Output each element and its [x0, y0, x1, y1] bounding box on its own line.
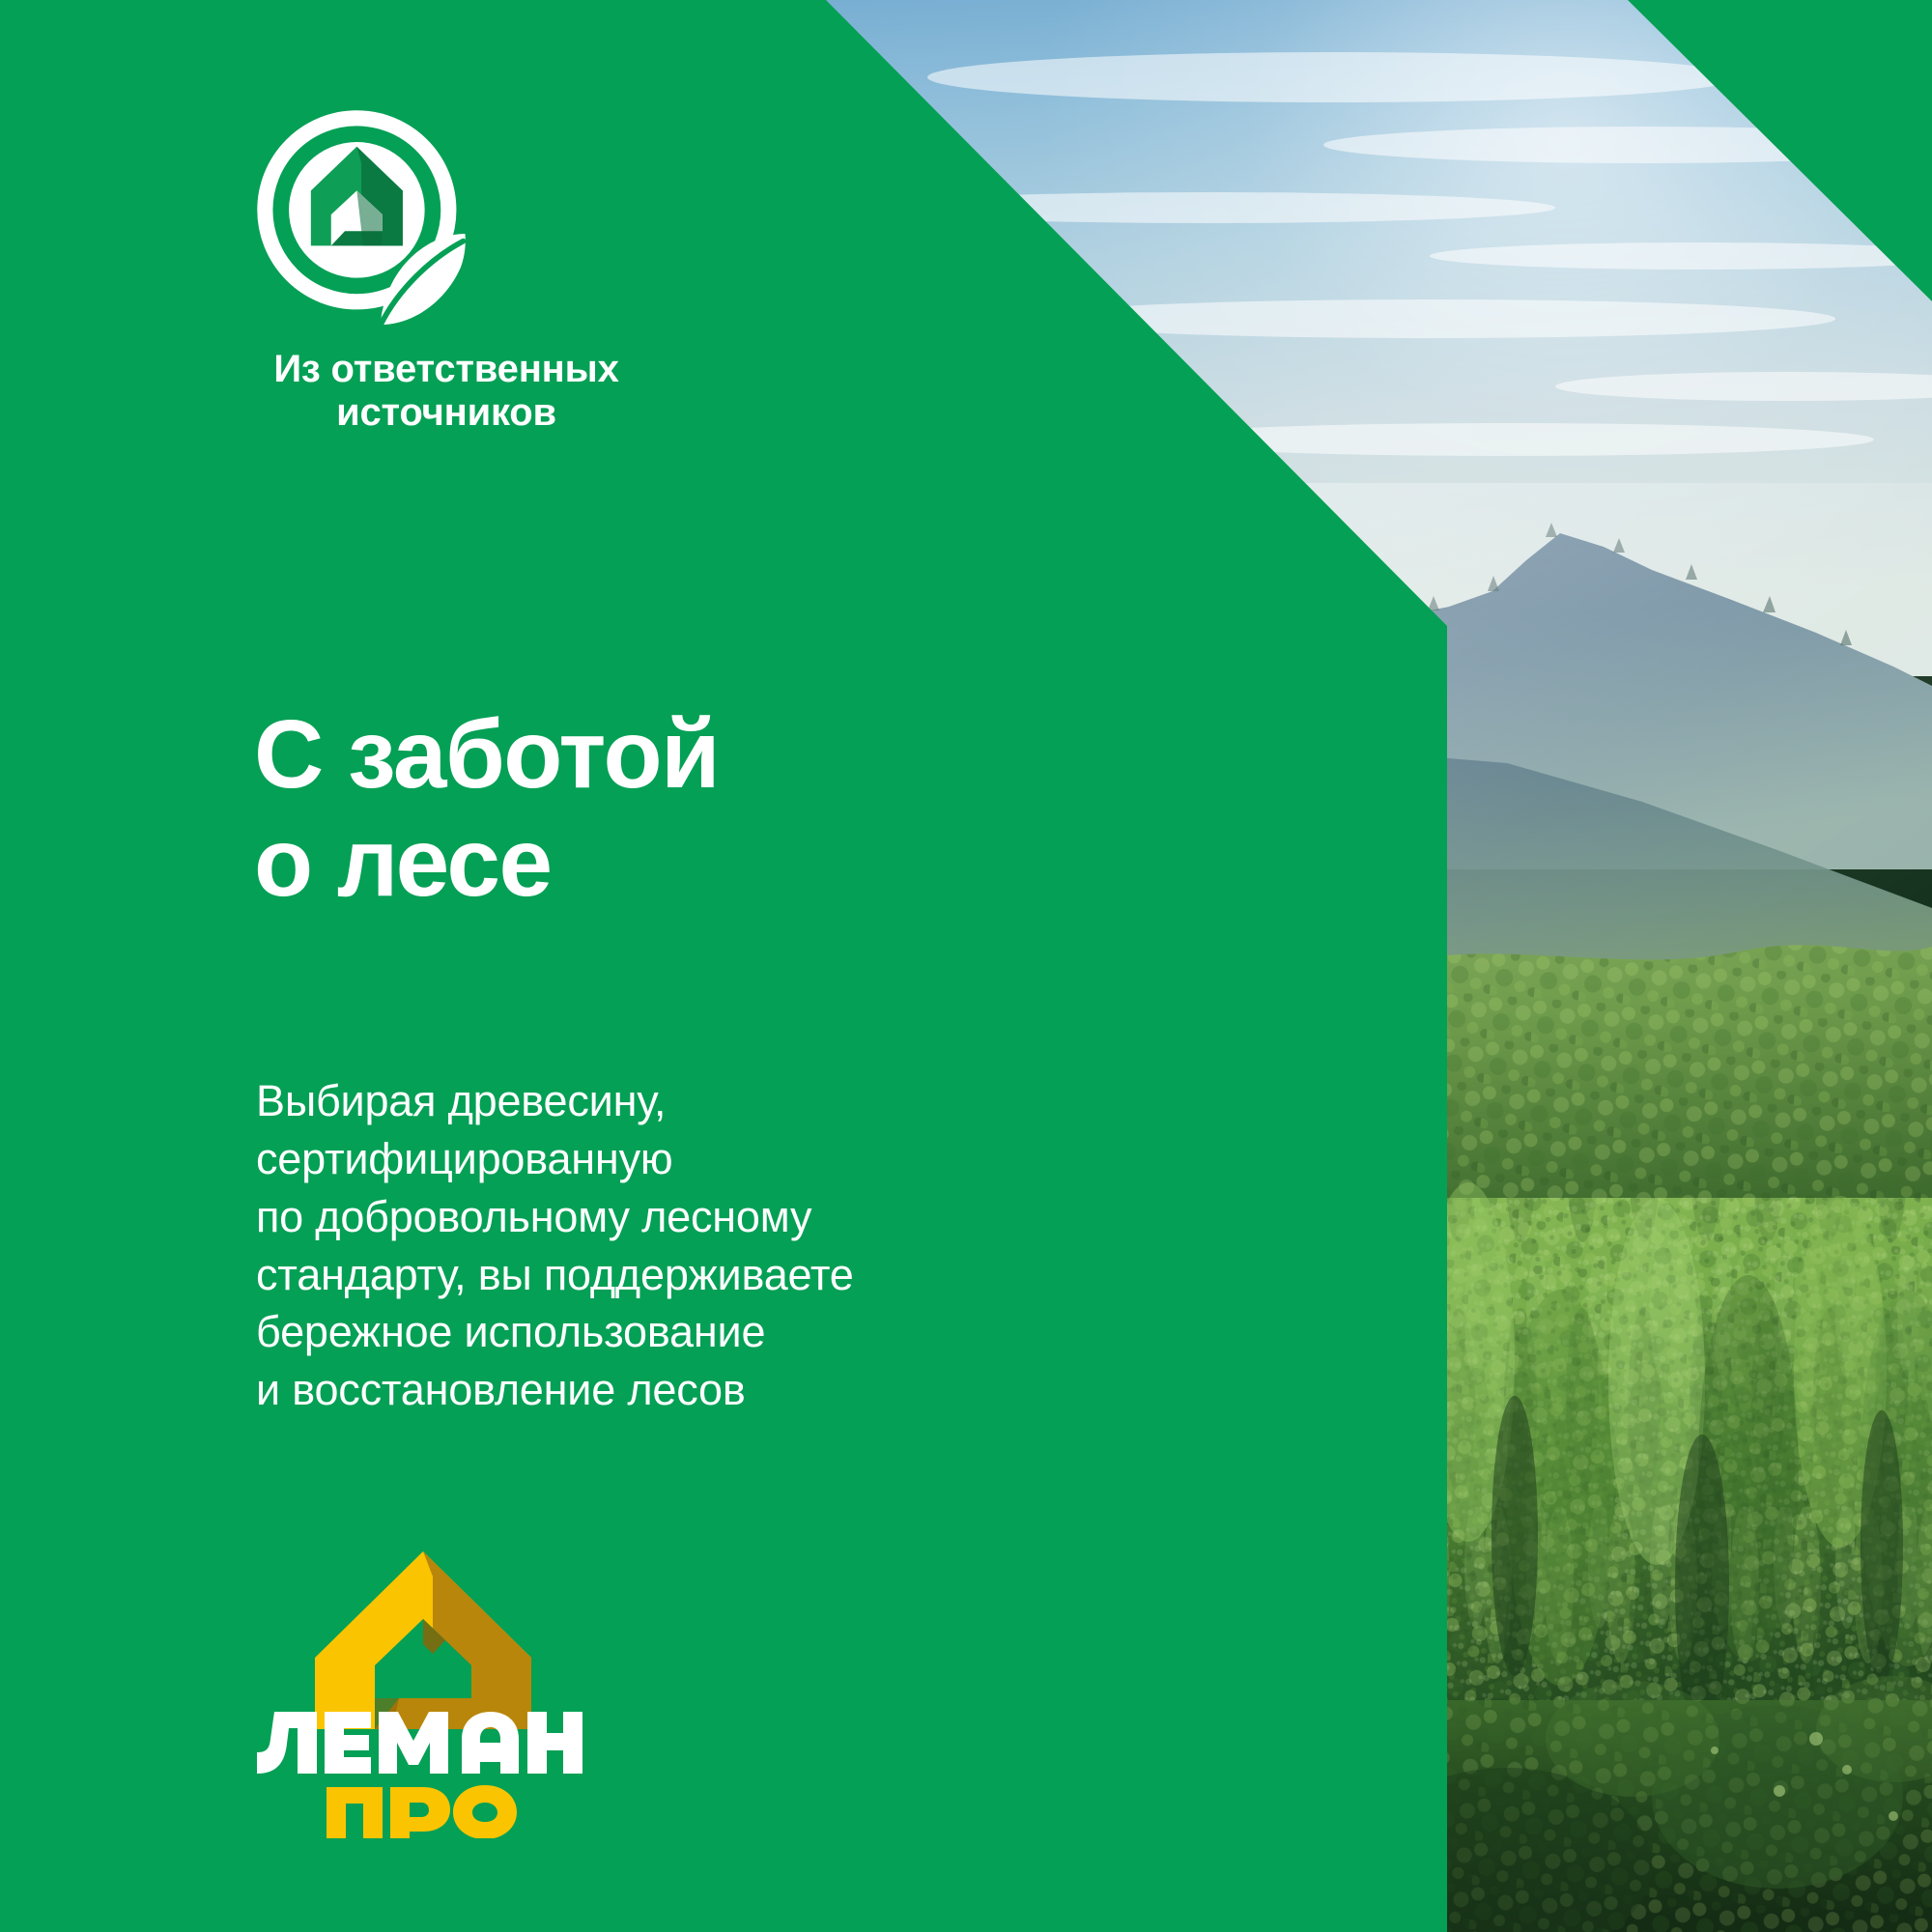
- poster-content: Из ответственных источников С заботой о …: [0, 0, 1932, 1932]
- eco-badge: Из ответственных источников: [248, 106, 712, 435]
- page-title: С заботой о лесе: [254, 700, 719, 917]
- brand-lockup: [249, 1544, 597, 1838]
- eco-badge-caption: Из ответственных источников: [248, 348, 644, 435]
- lemana-pro-wordmark: [327, 1785, 517, 1838]
- lemana-house-icon: [315, 1551, 531, 1729]
- body-paragraph: Выбирая древесину, сертифицированную по …: [256, 1072, 854, 1419]
- house-leaf-circle-emblem-icon: [253, 106, 473, 327]
- poster-canvas: Из ответственных источников С заботой о …: [0, 0, 1932, 1932]
